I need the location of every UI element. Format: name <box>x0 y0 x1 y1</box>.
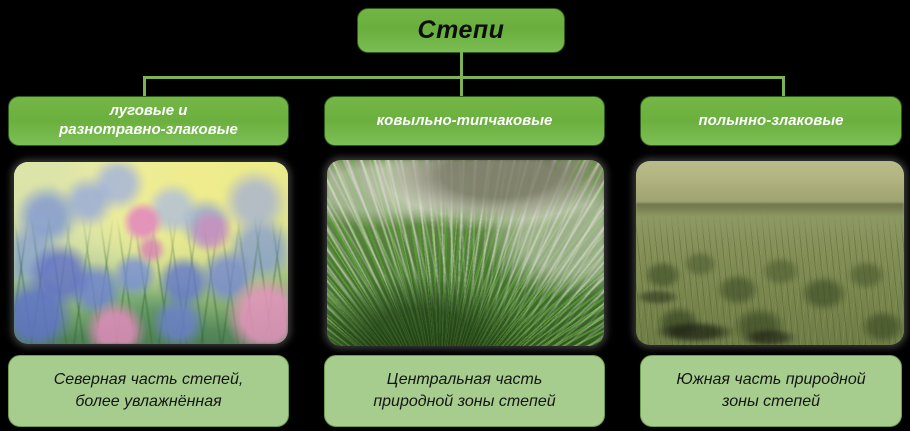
caption-node-1-line2: более увлажнённая <box>75 393 221 410</box>
feather-grass-image <box>327 160 604 346</box>
meadow-flowers-image <box>14 162 288 344</box>
root-node-label: Степи <box>418 16 505 45</box>
steppe-dark-patch-layer <box>636 161 904 345</box>
category-node-3: полынно-злаковые <box>640 96 902 146</box>
caption-node-1: Северная часть степей, более увлажнённая <box>8 355 289 427</box>
caption-node-2: Центральная часть природной зоны степей <box>324 355 605 427</box>
wormwood-steppe-image <box>636 161 904 345</box>
category-node-1-line1: луговые и <box>110 102 188 119</box>
category-node-3-label: полынно-злаковые <box>698 112 843 131</box>
connector-branch-3-drop <box>782 76 785 98</box>
caption-node-2-line2: природной зоны степей <box>373 393 555 410</box>
category-node-1: луговые и разнотравно-злаковые <box>8 96 289 146</box>
root-node-steppes: Степи <box>357 8 565 53</box>
photo-panel-1 <box>14 162 288 344</box>
caption-node-2-label: Центральная часть природной зоны степей <box>373 369 555 412</box>
steppe-classification-diagram: Степи луговые и разнотравно-злаковые Сев… <box>0 0 910 431</box>
caption-node-1-line1: Северная часть степей, <box>54 371 244 388</box>
connector-horizontal-bar <box>143 76 785 79</box>
grass-shadow-layer <box>327 160 604 346</box>
caption-node-2-line1: Центральная часть <box>387 371 543 388</box>
caption-node-3-line1: Южная часть природной <box>676 371 865 388</box>
category-node-2-label: ковыльно-типчаковые <box>377 112 553 131</box>
category-node-2: ковыльно-типчаковые <box>324 96 605 146</box>
photo-panel-2 <box>327 160 604 346</box>
caption-node-3-label: Южная часть природной зоны степей <box>676 369 865 412</box>
caption-node-1-label: Северная часть степей, более увлажнённая <box>54 369 244 412</box>
connector-branch-2-drop <box>460 76 463 98</box>
meadow-blossoms-layer <box>14 162 288 344</box>
category-node-1-line2: разнотравно-злаковые <box>59 121 238 138</box>
connector-branch-1-drop <box>143 76 146 98</box>
category-node-1-label: луговые и разнотравно-злаковые <box>59 102 238 140</box>
caption-node-3-line2: зоны степей <box>722 393 820 410</box>
caption-node-3: Южная часть природной зоны степей <box>640 355 902 427</box>
photo-panel-3 <box>636 161 904 345</box>
